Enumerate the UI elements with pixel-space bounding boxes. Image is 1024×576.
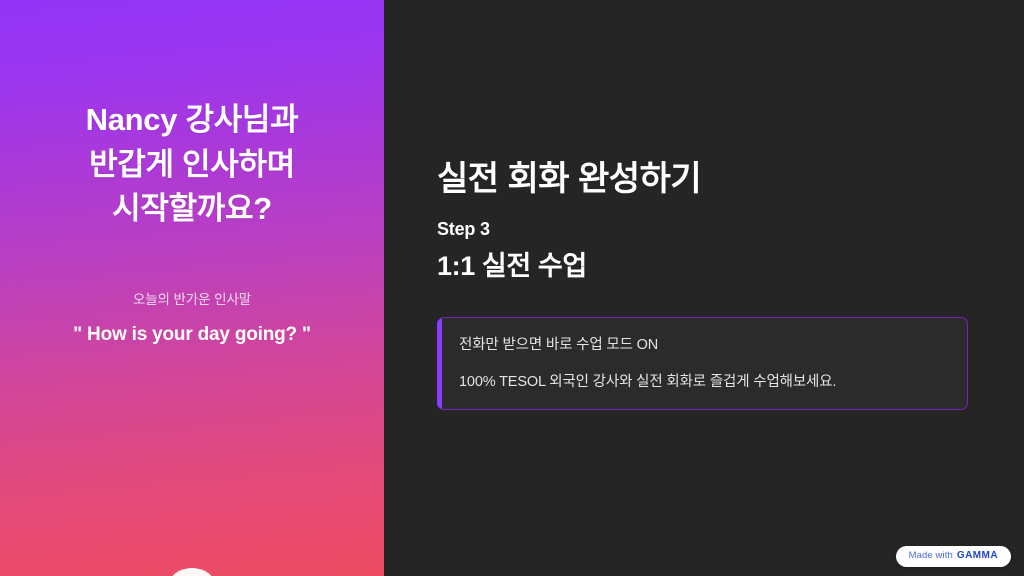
badge-brand-label: GAMMA (957, 551, 998, 561)
callout-line-2: 100% TESOL 외국인 강사와 실전 회화로 즐겁게 수업해보세요. (459, 356, 947, 393)
decorative-circle (169, 568, 215, 576)
right-content-panel: 실전 회화 완성하기 Step 3 1:1 실전 수업 (384, 0, 1024, 576)
section-title: 실전 회화 완성하기 (437, 158, 968, 201)
callout-text-block: 전화만 받으면 바로 수업 모드 ON 100% TESOL 외국인 강사와 실… (442, 318, 967, 409)
left-content-block: Nancy 강사님과 반갑게 인사하며 시작할까요? 오늘의 반가운 인사말 "… (0, 98, 384, 349)
greeting-quote: " How is your day going? " (26, 310, 358, 349)
badge-made-with-label: Made with (909, 551, 953, 561)
callout-card: 전화만 받으면 바로 수업 모드 ON 100% TESOL 외국인 강사와 실… (437, 317, 968, 410)
step-label: Step 3 (437, 201, 968, 241)
left-panel-title: Nancy 강사님과 반갑게 인사하며 시작할까요? (26, 98, 358, 232)
callout-line-1: 전화만 받으면 바로 수업 모드 ON (459, 335, 947, 356)
left-title-line-2: 반갑게 인사하며 (26, 143, 358, 188)
made-with-gamma-badge[interactable]: Made with GAMMA (896, 546, 1011, 567)
left-title-line-3: 시작할까요? (26, 187, 358, 232)
left-gradient-panel: Nancy 강사님과 반갑게 인사하며 시작할까요? 오늘의 반가운 인사말 "… (0, 0, 384, 576)
right-heading-block: 실전 회화 완성하기 Step 3 1:1 실전 수업 (437, 158, 968, 284)
left-title-line-1: Nancy 강사님과 (26, 98, 358, 143)
step-title: 1:1 실전 수업 (437, 241, 968, 284)
greeting-caption: 오늘의 반가운 인사말 (26, 232, 358, 310)
presentation-slide: Nancy 강사님과 반갑게 인사하며 시작할까요? 오늘의 반가운 인사말 "… (0, 0, 1024, 576)
